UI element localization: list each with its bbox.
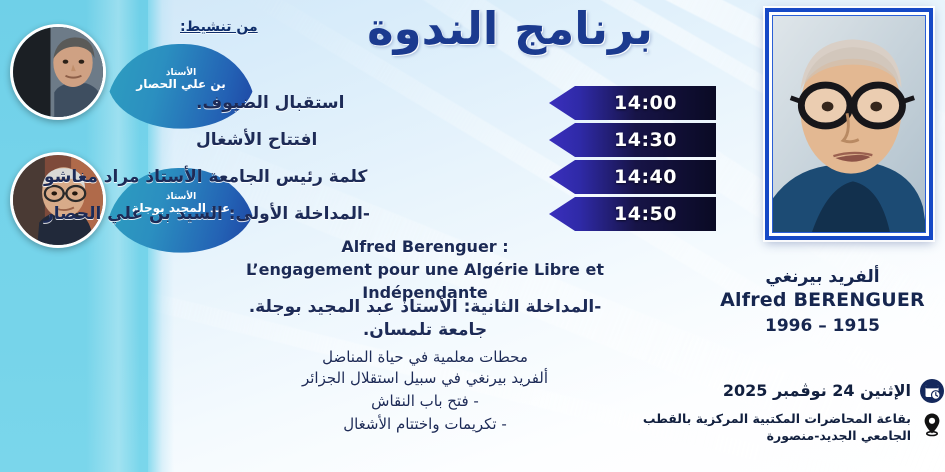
subject-portrait-frame xyxy=(765,8,933,240)
schedule-label: كلمة رئيس الجامعة الأستاذ مراد مغاشو xyxy=(44,160,544,194)
subject-name-arabic: ألفريد بيرنغي xyxy=(700,266,945,288)
schedule-row: كلمة رئيس الجامعة الأستاذ مراد مغاشو 14:… xyxy=(196,160,716,194)
location-pin-icon xyxy=(919,411,945,437)
body-line-4: ألفريد بيرنغي في سبيل استقلال الجزائر xyxy=(180,368,670,390)
body-line-3: محطات معلمية في حياة المناضل xyxy=(180,347,670,369)
schedule-time-badge: 14:50 xyxy=(549,197,716,231)
subject-name-block: ألفريد بيرنغي Alfred BERENGUER 1996 – 19… xyxy=(700,266,945,339)
schedule-label: افتتاح الأشغال xyxy=(196,123,544,157)
moderators-heading: من تنشيط: xyxy=(180,19,258,35)
event-place-row: بقاعة المحاضرات المكتبية المركزية بالقطب… xyxy=(600,411,945,445)
avatar xyxy=(10,24,106,120)
body-line-5: - فتح باب النقاش xyxy=(180,390,670,413)
subject-years: 1996 – 1915 xyxy=(700,314,945,340)
body-line-6: - تكريمات واختتام الأشغال xyxy=(180,413,670,436)
calendar-icon xyxy=(919,378,945,404)
subject-portrait xyxy=(772,15,926,233)
event-info: الإثنين 24 نوڤمبر 2025 بقاعة المحاضرات ا… xyxy=(600,378,945,452)
seminar-program-poster: برنامج الندوة من تنشيط: الأستاذ بن علي ا… xyxy=(0,0,945,472)
event-place-line2: الجامعي الجديد-منصورة xyxy=(643,428,911,445)
body-line-1: -المداخلة الثانية: الأستاذ عبد المجيد بو… xyxy=(180,296,670,319)
program-body-arabic: -المداخلة الثانية: الأستاذ عبد المجيد بو… xyxy=(180,296,670,435)
event-date-row: الإثنين 24 نوڤمبر 2025 xyxy=(600,378,945,404)
schedule-row: افتتاح الأشغال 14:30 xyxy=(196,123,716,157)
event-place-line1: بقاعة المحاضرات المكتبية المركزية بالقطب xyxy=(643,411,911,428)
body-line-2: جامعة تلمسان. xyxy=(180,319,670,343)
schedule-time-badge: 14:00 xyxy=(549,86,716,120)
lecture-title-french: Alfred Berenguer : L’engagement pour une… xyxy=(190,236,660,304)
event-date: الإثنين 24 نوڤمبر 2025 xyxy=(723,378,911,400)
event-place: بقاعة المحاضرات المكتبية المركزية بالقطب… xyxy=(643,411,911,445)
page-title: برنامج الندوة xyxy=(300,2,720,55)
schedule-row: استقبال الضيوف. 14:00 xyxy=(196,86,716,120)
schedule-row: -المداخلة الأولى: السيد بن علي الحصار 14… xyxy=(196,197,716,231)
schedule-label: استقبال الضيوف. xyxy=(196,86,544,120)
schedule-time-badge: 14:40 xyxy=(549,160,716,194)
schedule-list: استقبال الضيوف. 14:00 افتتاح الأشغال 14:… xyxy=(196,86,716,234)
schedule-time-badge: 14:30 xyxy=(549,123,716,157)
subject-name-latin: Alfred BERENGUER xyxy=(700,288,945,314)
lecture-title-line1: Alfred Berenguer : xyxy=(190,236,660,258)
schedule-label: -المداخلة الأولى: السيد بن علي الحصار xyxy=(44,197,544,231)
